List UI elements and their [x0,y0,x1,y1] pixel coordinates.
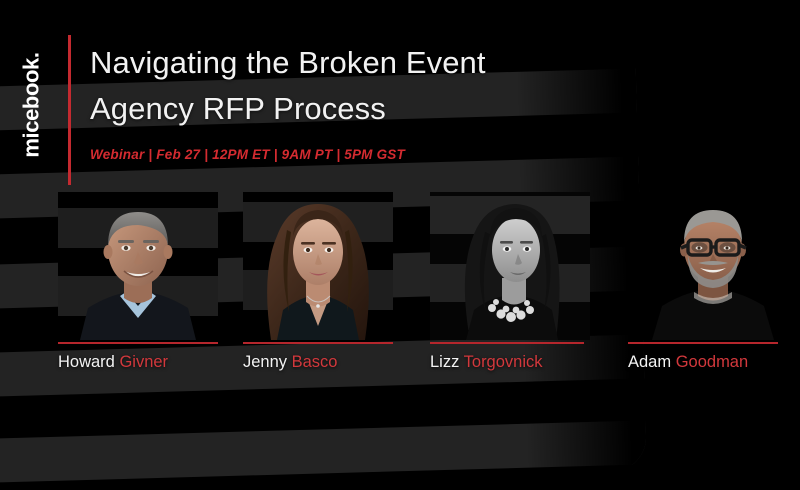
speaker-name: Jenny Basco [243,353,393,371]
speaker-photo [430,192,590,340]
webinar-datetime-subtitle: Webinar | Feb 27 | 12PM ET | 9AM PT | 5P… [90,147,650,162]
speaker-last-name: Givner [119,353,168,371]
red-vertical-divider [68,35,71,185]
speaker-underline [628,342,778,344]
portrait-jenny-basco [243,192,393,340]
speaker-photo [628,192,798,340]
portrait-howard-givner [58,192,218,340]
micebook-logo: micebook. [14,40,50,170]
speaker-card: Jenny Basco [243,192,393,371]
speaker-row: Howard Givner [0,192,800,392]
speaker-first-name: Howard [58,353,115,371]
speaker-first-name: Adam [628,353,671,371]
speaker-underline [243,342,393,344]
speaker-photo [243,192,393,340]
background-stripe [0,420,647,484]
speaker-underline [430,342,584,344]
speaker-first-name: Lizz [430,353,459,371]
speaker-card: Lizz Torgovnick [430,192,590,371]
portrait-lizz-torgovnick [430,192,590,340]
speaker-card: Howard Givner [58,192,218,371]
speaker-last-name: Torgovnick [464,353,543,371]
portrait-adam-goodman [628,192,798,340]
speaker-name: Adam Goodman [628,353,798,371]
speaker-name: Lizz Torgovnick [430,353,590,371]
webinar-promo-slide: { "brand": { "logo_text": "micebook.", "… [0,0,800,450]
speaker-last-name: Goodman [676,353,748,371]
header-block: Navigating the Broken Event Agency RFP P… [90,40,650,162]
speaker-underline [58,342,218,344]
page-title: Navigating the Broken Event Agency RFP P… [90,40,650,131]
logo-text: micebook. [19,52,45,157]
speaker-last-name: Basco [292,353,338,371]
speaker-card: Adam Goodman [628,192,798,371]
title-line-1: Navigating the Broken Event [90,40,650,86]
speaker-photo [58,192,218,340]
speaker-name: Howard Givner [58,353,218,371]
speaker-first-name: Jenny [243,353,287,371]
title-line-2: Agency RFP Process [90,86,650,132]
